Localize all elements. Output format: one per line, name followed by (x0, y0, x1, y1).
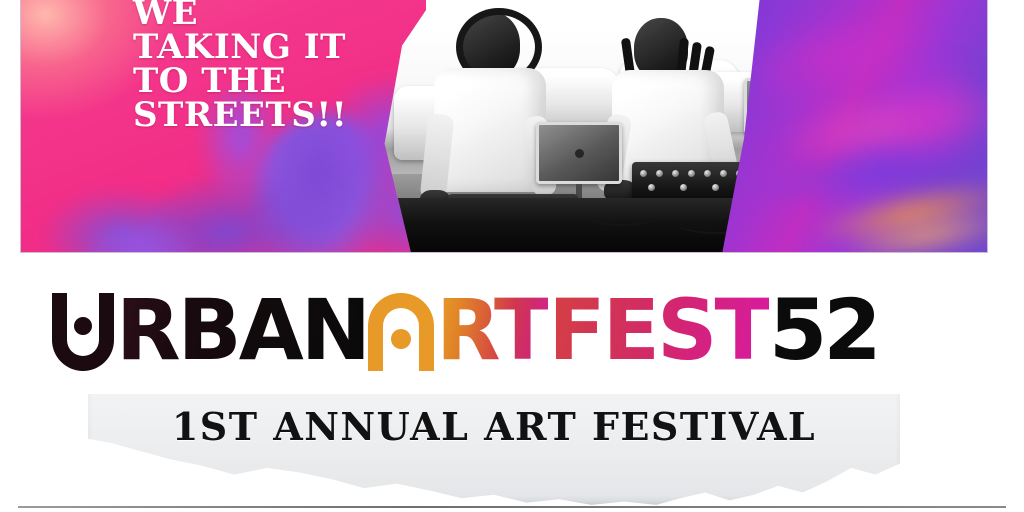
mixer-knob-icon (648, 184, 655, 191)
wordmark-letter-a-icon (368, 293, 434, 371)
headline-line-3: TO THE (133, 64, 403, 98)
laptop-icon (536, 122, 622, 184)
wordmark-fest: FEST (548, 283, 769, 378)
banner-headline: WE TAKING IT TO THE STREETS!! (133, 0, 403, 132)
mixer-knob-icon (640, 170, 647, 177)
wordmark-letter-u-icon (52, 293, 114, 371)
event-flyer: WE TAKING IT TO THE STREETS!! (0, 0, 1024, 512)
u-dot-icon (74, 317, 92, 335)
mixer-knob-icon (720, 170, 727, 177)
laptop-logo-icon (575, 149, 584, 158)
a-dot-icon (391, 329, 411, 349)
mixer-knob-icon (680, 184, 687, 191)
festival-wordmark: RBAN RTFEST52 (52, 283, 972, 378)
wordmark-art: RT (436, 283, 548, 378)
festival-subtitle: 1ST ANNUAL ART FESTIVAL (88, 404, 900, 449)
wordmark-number: 52 (769, 283, 878, 378)
mixer-knob-icon (704, 170, 711, 177)
purple-fluid-art-panel (717, 0, 987, 252)
mixer-knob-icon (712, 184, 719, 191)
wordmark-urban: RBAN (116, 283, 368, 378)
headline-line-1: WE (133, 0, 403, 30)
mixer-knob-icon (688, 170, 695, 177)
magenta-swirl-icon (867, 54, 987, 174)
hero-banner: WE TAKING IT TO THE STREETS!! (21, 0, 987, 252)
cable (586, 206, 656, 226)
headline-line-2: TAKING IT (133, 30, 403, 64)
bottom-divider (18, 506, 1006, 508)
headline-line-4: STREETS!! (133, 98, 403, 132)
mixer-knob-icon (656, 170, 663, 177)
mixer-knob-icon (672, 170, 679, 177)
